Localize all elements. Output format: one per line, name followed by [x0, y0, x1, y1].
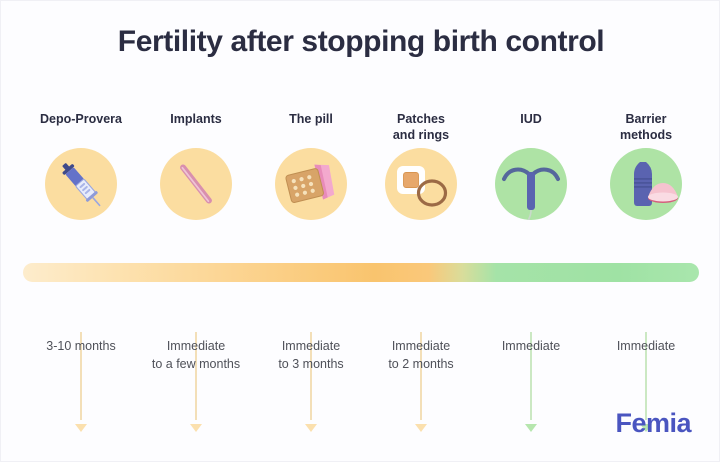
- connector-notch: [190, 424, 202, 432]
- pill-pack-icon: [275, 148, 347, 220]
- method-column-barrier-methods: Barrier methods Immediate: [576, 111, 716, 223]
- femia-logo: Femia: [615, 408, 691, 439]
- connector-notch: [305, 424, 317, 432]
- condom-and-diaphragm-icon: [610, 148, 682, 220]
- connector-notch: [525, 424, 537, 432]
- method-label: Barrier methods: [576, 111, 716, 143]
- method-icon-circle: Immediate: [576, 145, 716, 223]
- implant-rod-icon: [160, 148, 232, 220]
- return-time-caption: Immediate: [576, 337, 716, 355]
- iud-icon: [495, 148, 567, 220]
- connector-notch: [75, 424, 87, 432]
- patch-and-ring-icon: [385, 148, 457, 220]
- timeline-gradient-bar: [23, 263, 699, 282]
- syringe-icon: [45, 148, 117, 220]
- page-title: Fertility after stopping birth control: [1, 25, 720, 59]
- connector-notch: [415, 424, 427, 432]
- fertility-infographic: Fertility after stopping birth control D…: [0, 0, 720, 462]
